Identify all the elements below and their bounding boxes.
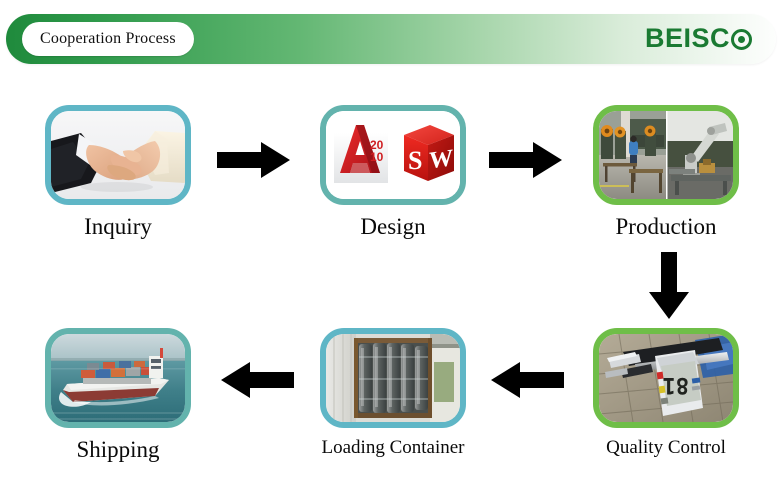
- factory-production-photo: [599, 111, 733, 199]
- logo-o-mark-icon: [731, 29, 752, 50]
- step-design-label: Design: [320, 214, 466, 240]
- step-inquiry-frame: [45, 105, 191, 205]
- digital-caliper-photo: 81: [599, 334, 733, 422]
- step-production-frame: [593, 105, 739, 205]
- design-software-illustration: 20 10 S W: [326, 111, 460, 199]
- step-shipping-frame: [45, 328, 191, 428]
- header-bar: Cooperation Process BEISC: [6, 14, 776, 64]
- cad-software-logos: 20 10 S W: [326, 111, 460, 199]
- handshake-illustration: [51, 111, 185, 199]
- step-quality-control[interactable]: 81 Quality Control: [593, 328, 739, 459]
- page-title: Cooperation Process: [40, 30, 176, 48]
- step-shipping[interactable]: Shipping: [45, 328, 191, 463]
- step-design-frame: 20 10 S W: [320, 105, 466, 205]
- arrow-left-icon: [221, 360, 295, 400]
- arrow-left-icon: [491, 360, 565, 400]
- svg-text:S: S: [408, 146, 422, 175]
- step-quality-control-frame: 81: [593, 328, 739, 428]
- step-quality-control-label: Quality Control: [593, 437, 739, 459]
- arrow-production-to-quality: [648, 252, 690, 325]
- step-design[interactable]: 20 10 S W Design: [320, 105, 466, 240]
- header-title-pill: Cooperation Process: [22, 22, 194, 56]
- svg-text:W: W: [429, 145, 453, 174]
- step-loading-container-frame: [320, 328, 466, 428]
- arrow-inquiry-to-design: [217, 140, 291, 185]
- step-loading-container-label: Loading Container: [320, 437, 466, 459]
- handshake-photo: [51, 111, 185, 199]
- arrow-loading-to-shipping: [221, 360, 295, 405]
- step-inquiry[interactable]: Inquiry: [45, 105, 191, 240]
- step-production[interactable]: Production: [593, 105, 739, 240]
- logo-text: BEISC: [645, 23, 730, 54]
- svg-text:10: 10: [370, 150, 384, 164]
- arrow-down-icon: [648, 252, 690, 320]
- factory-illustration: [599, 111, 733, 199]
- arrow-quality-to-loading: [491, 360, 565, 405]
- caliper-illustration: 81: [599, 334, 733, 422]
- cooperation-process-infographic: Cooperation Process BEISC: [0, 0, 780, 480]
- arrow-right-icon: [217, 140, 291, 180]
- beisco-logo: BEISC: [645, 23, 752, 54]
- container-loading-photo: [326, 334, 460, 422]
- svg-text:81: 81: [663, 372, 690, 397]
- step-loading-container[interactable]: Loading Container: [320, 328, 466, 459]
- solidworks-logo: S W: [404, 125, 454, 181]
- autocad-2010-logo: 20 10: [334, 125, 388, 183]
- arrow-right-icon: [489, 140, 563, 180]
- cargo-ship-photo: [51, 334, 185, 422]
- arrow-design-to-production: [489, 140, 563, 185]
- step-production-label: Production: [593, 214, 739, 240]
- container-illustration: [326, 334, 460, 422]
- step-inquiry-label: Inquiry: [45, 214, 191, 240]
- cargo-ship-illustration: [51, 334, 185, 422]
- step-shipping-label: Shipping: [45, 437, 191, 463]
